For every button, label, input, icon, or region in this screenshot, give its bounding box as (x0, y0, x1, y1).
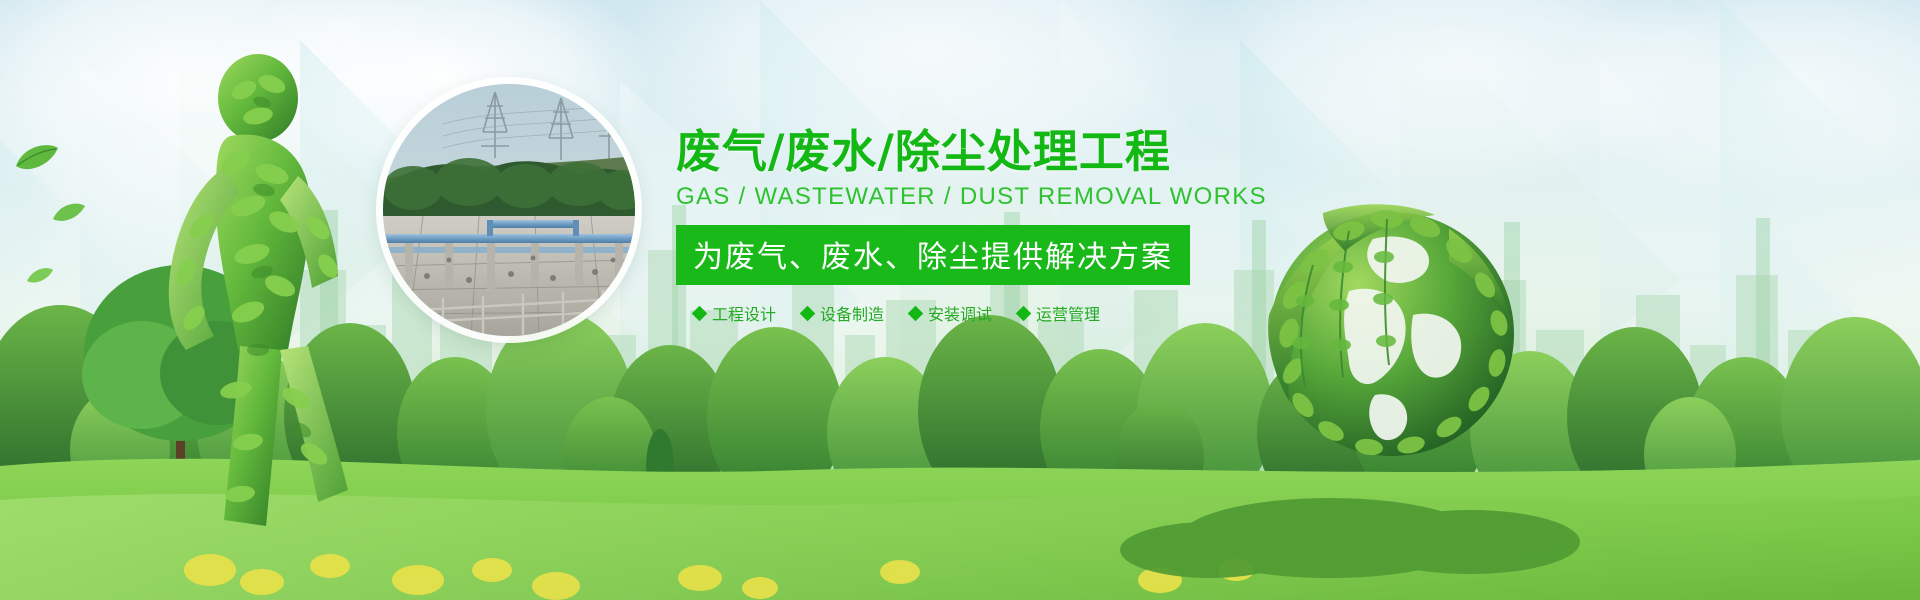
floating-leaf-icon (26, 265, 54, 285)
diamond-bullet-icon (908, 305, 924, 321)
list-item-label: 设备制造 (820, 301, 884, 325)
cloud-decoration (1180, 0, 1720, 190)
slogan-text: 为废气、废水、除尘提供解决方案 (693, 240, 1173, 275)
floating-leaf-icon (14, 140, 60, 174)
diamond-bullet-icon (800, 305, 816, 321)
service-bullet-list: 工程设计 设备制造 安装调试 运营管理 (676, 301, 1236, 325)
banner-text-block: 废气/废水/除尘处理工程 GAS / WASTEWATER / DUST REM… (676, 126, 1236, 325)
cloud-decoration (1560, 0, 1920, 200)
wastewater-plant-photo (383, 84, 635, 336)
eco-engineering-banner: 废气/废水/除尘处理工程 GAS / WASTEWATER / DUST REM… (0, 0, 1920, 600)
list-item-label: 工程设计 (712, 301, 776, 325)
cloud-decoration (40, 120, 400, 290)
leaf-man-figure (112, 50, 352, 570)
list-item: 设备制造 (802, 301, 884, 325)
leafy-earth-globe (1253, 195, 1531, 473)
list-item: 工程设计 (694, 301, 776, 325)
page-subtitle: GAS / WASTEWATER / DUST REMOVAL WORKS (676, 183, 1236, 211)
grass-foreground (0, 430, 1920, 600)
list-item-label: 安装调试 (928, 301, 992, 325)
floating-leaf-icon (52, 200, 86, 224)
list-item: 安装调试 (910, 301, 992, 325)
list-item: 运营管理 (1018, 301, 1100, 325)
list-item-label: 运营管理 (1036, 301, 1100, 325)
slogan-banner: 为废气、废水、除尘提供解决方案 (676, 225, 1190, 285)
diamond-bullet-icon (692, 305, 708, 321)
diamond-bullet-icon (1016, 305, 1032, 321)
page-title: 废气/废水/除尘处理工程 (676, 126, 1236, 178)
